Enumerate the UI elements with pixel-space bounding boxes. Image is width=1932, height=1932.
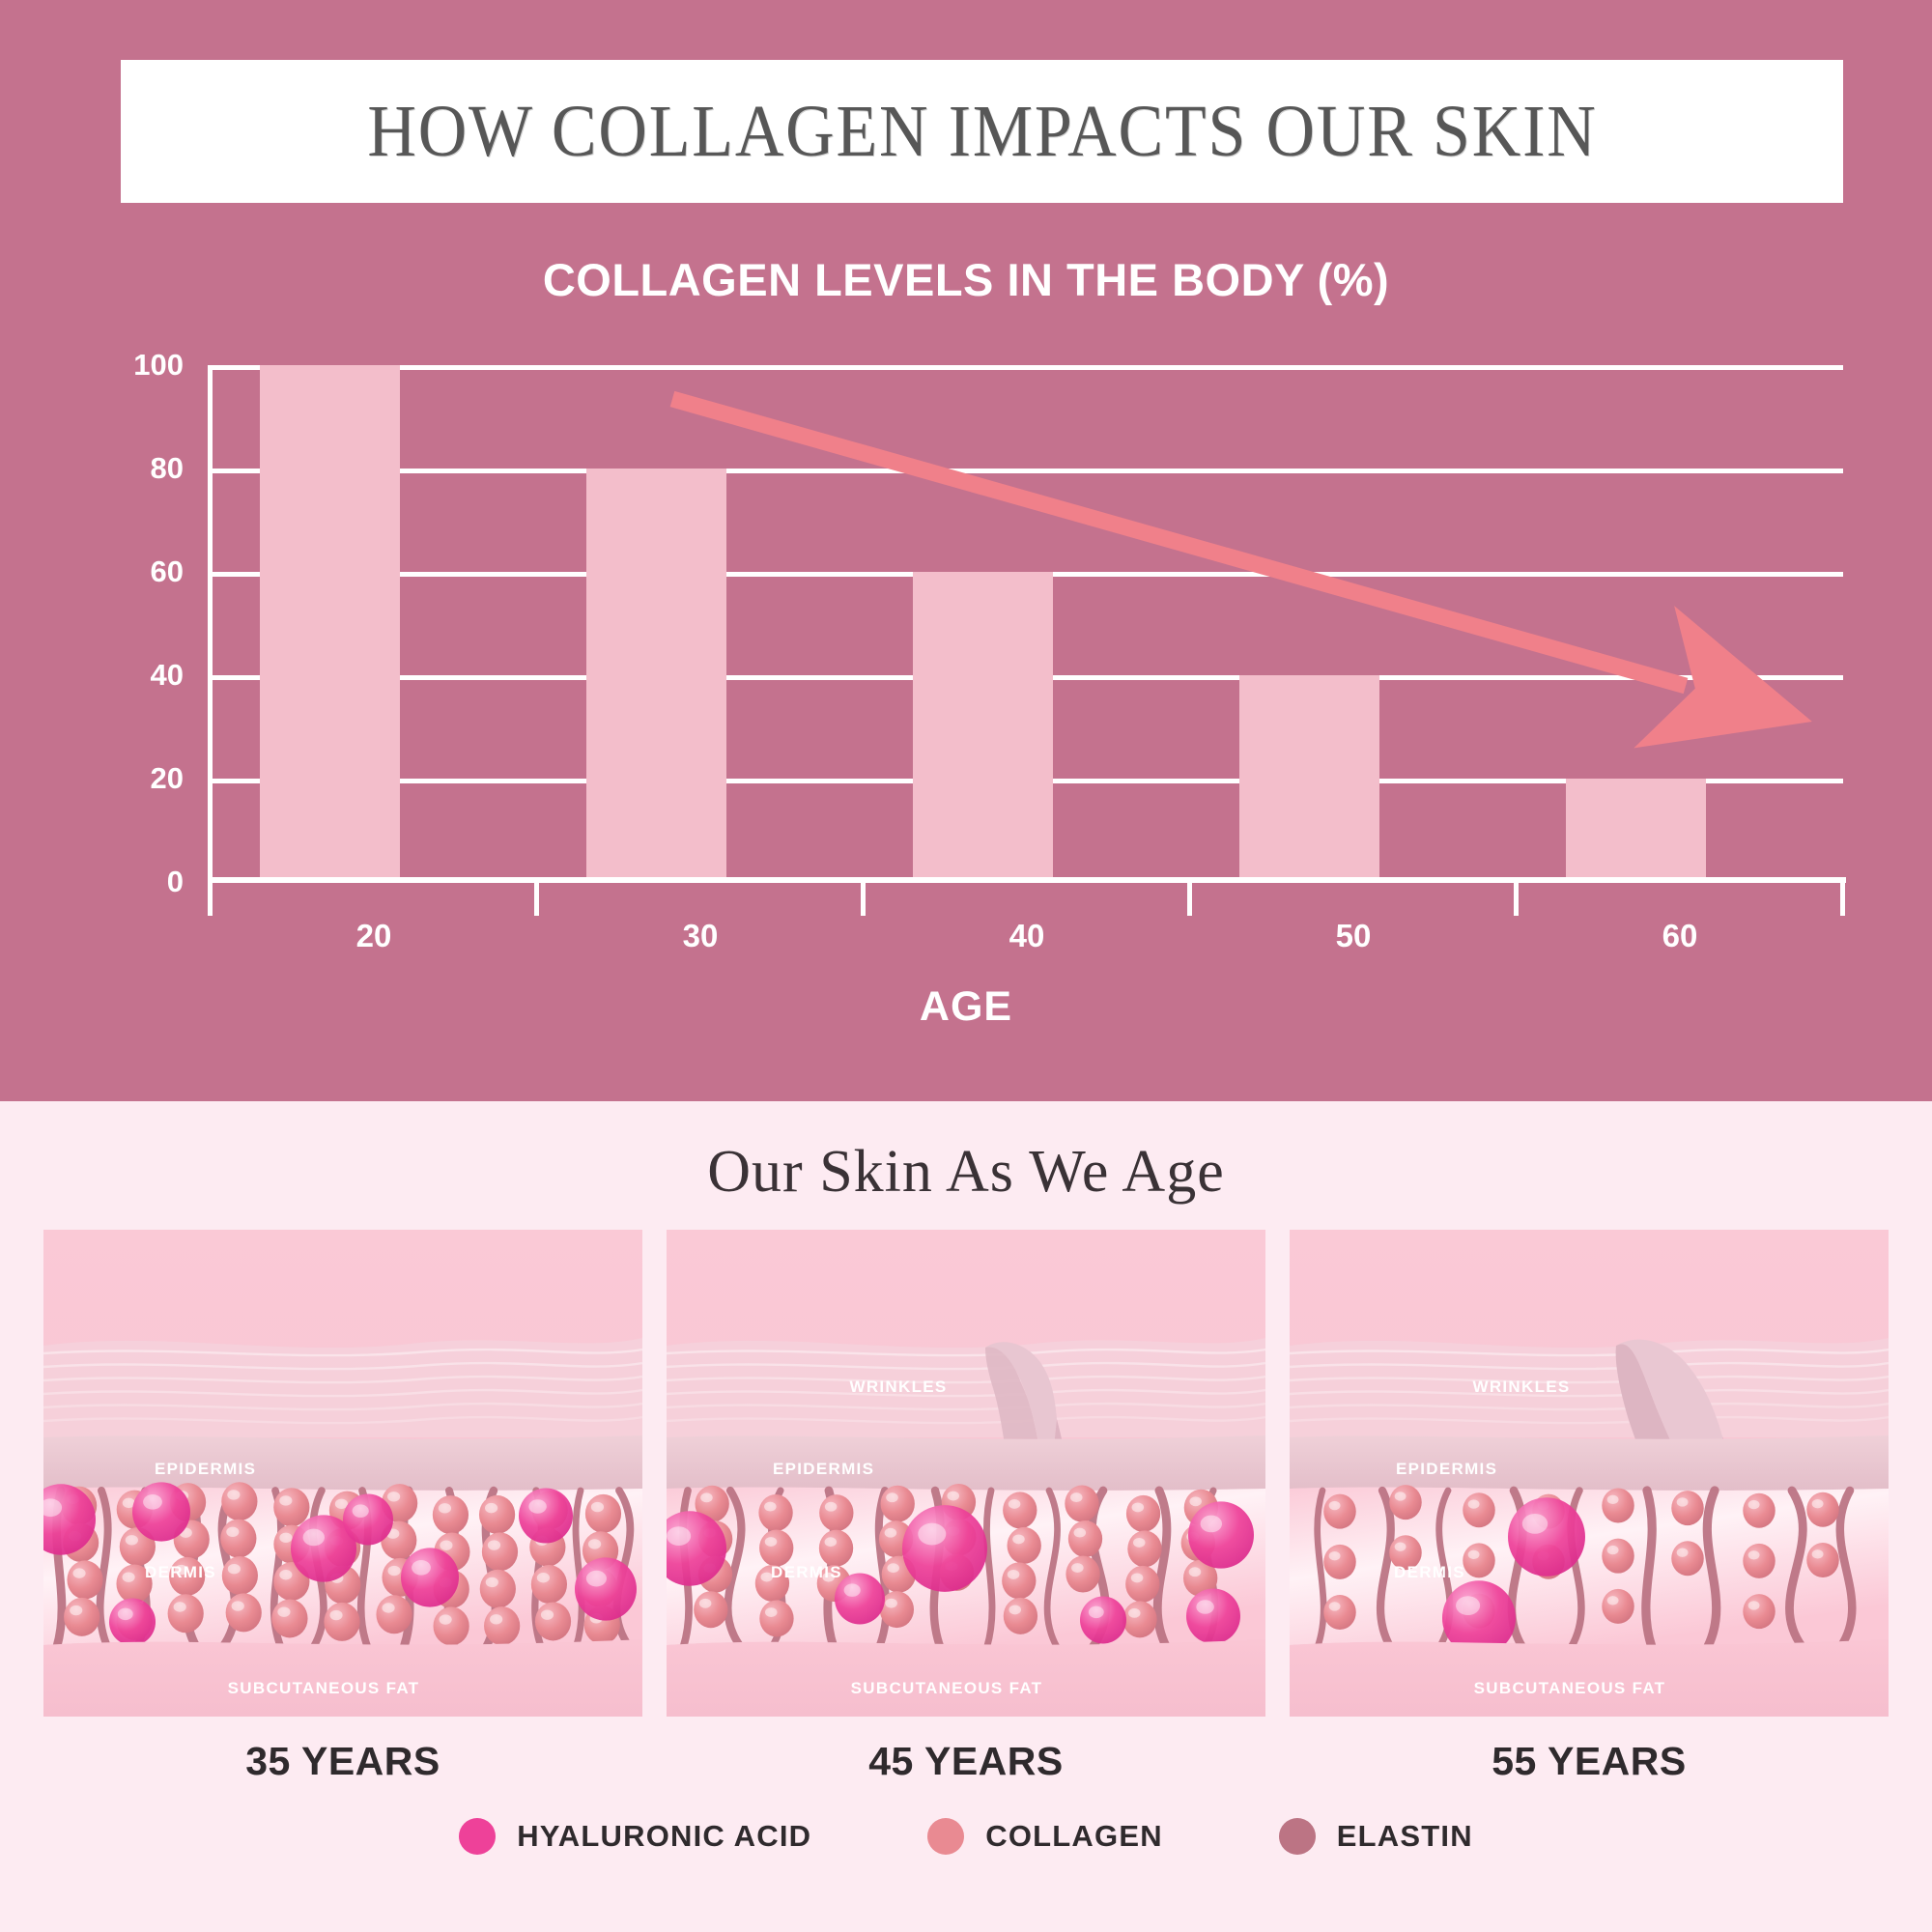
gridline-100 — [211, 365, 1843, 370]
x-axis-line — [208, 877, 1846, 883]
y-tick-label: 100 — [68, 348, 184, 383]
x-tick-mark — [1514, 877, 1519, 916]
x-tick-label: 50 — [1190, 918, 1517, 954]
page-title: HOW COLLAGEN IMPACTS OUR SKIN — [367, 90, 1597, 174]
y-tick-label: 80 — [68, 451, 184, 486]
label-epidermis: EPIDERMIS — [1396, 1460, 1497, 1478]
y-tick-label: 0 — [68, 865, 184, 899]
x-tick-mark — [861, 877, 866, 916]
legend: HYALURONIC ACIDCOLLAGENELASTIN — [0, 1818, 1932, 1855]
y-tick-label: 40 — [68, 658, 184, 693]
y-tick-label: 60 — [68, 554, 184, 589]
legend-color-dot — [1279, 1818, 1316, 1855]
x-axis-title: AGE — [0, 983, 1932, 1031]
y-axis-tick-labels: 100806040200 — [68, 365, 184, 882]
y-tick-label: 20 — [68, 761, 184, 796]
gridline-80 — [211, 469, 1843, 473]
bar — [260, 365, 400, 882]
section-title: Our Skin As We Age — [0, 1138, 1932, 1207]
x-tick-label: 20 — [211, 918, 537, 954]
legend-item: ELASTIN — [1279, 1818, 1473, 1855]
label-subcutaneous-fat: SUBCUTANEOUS FAT — [228, 1679, 420, 1697]
bar — [1566, 779, 1706, 882]
label-subcutaneous-fat: SUBCUTANEOUS FAT — [1474, 1679, 1666, 1697]
chart-title: COLLAGEN LEVELS IN THE BODY (%) — [0, 253, 1932, 306]
x-tick-mark — [1187, 877, 1192, 916]
bar-chart-plot-area — [211, 365, 1843, 882]
panel-caption: 35 YEARS — [43, 1739, 642, 1784]
collagen-chart-section: HOW COLLAGEN IMPACTS OUR SKIN COLLAGEN L… — [0, 0, 1932, 1101]
label-wrinkles: WRINKLES — [849, 1378, 947, 1396]
legend-label: HYALURONIC ACID — [517, 1819, 811, 1854]
label-dermis: DERMIS — [1394, 1563, 1465, 1581]
skin-aging-section: Our Skin As We Age EPIDERMISDERMISSUBCUT… — [0, 1101, 1932, 1932]
x-tick-label: 30 — [537, 918, 864, 954]
x-tick-label: 60 — [1517, 918, 1843, 954]
label-dermis: DERMIS — [771, 1563, 842, 1581]
legend-label: COLLAGEN — [985, 1819, 1163, 1854]
skin-panels-row: EPIDERMISDERMISSUBCUTANEOUS FATWRINKLESE… — [43, 1230, 1889, 1717]
bar — [913, 572, 1053, 882]
skin-cross-section-illustration: EPIDERMISDERMISSUBCUTANEOUS FAT — [43, 1230, 642, 1717]
label-dermis: DERMIS — [145, 1563, 216, 1581]
panel-caption: 55 YEARS — [1290, 1739, 1889, 1784]
panel-caption: 45 YEARS — [667, 1739, 1265, 1784]
x-tick-label: 40 — [864, 918, 1190, 954]
x-tick-mark — [534, 877, 539, 916]
y-axis-line — [208, 365, 213, 890]
legend-color-dot — [927, 1818, 964, 1855]
label-wrinkles: WRINKLES — [1472, 1378, 1570, 1396]
label-subcutaneous-fat: SUBCUTANEOUS FAT — [851, 1679, 1043, 1697]
title-banner: HOW COLLAGEN IMPACTS OUR SKIN — [121, 60, 1843, 203]
x-tick-mark — [208, 877, 213, 916]
legend-item: HYALURONIC ACID — [459, 1818, 811, 1855]
label-epidermis: EPIDERMIS — [155, 1460, 256, 1478]
x-tick-mark — [1840, 877, 1845, 916]
skin-diagram-panel: EPIDERMISDERMISSUBCUTANEOUS FAT — [43, 1230, 642, 1717]
bar — [586, 469, 726, 882]
skin-cross-section-illustration: WRINKLESEPIDERMISDERMISSUBCUTANEOUS FAT — [1290, 1230, 1889, 1717]
legend-color-dot — [459, 1818, 496, 1855]
skin-diagram-panel: WRINKLESEPIDERMISDERMISSUBCUTANEOUS FAT — [1290, 1230, 1889, 1717]
skin-cross-section-illustration: WRINKLESEPIDERMISDERMISSUBCUTANEOUS FAT — [667, 1230, 1265, 1717]
skin-diagram-panel: WRINKLESEPIDERMISDERMISSUBCUTANEOUS FAT — [667, 1230, 1265, 1717]
legend-label: ELASTIN — [1337, 1819, 1473, 1854]
legend-item: COLLAGEN — [927, 1818, 1163, 1855]
bar — [1239, 675, 1379, 882]
label-epidermis: EPIDERMIS — [773, 1460, 874, 1478]
